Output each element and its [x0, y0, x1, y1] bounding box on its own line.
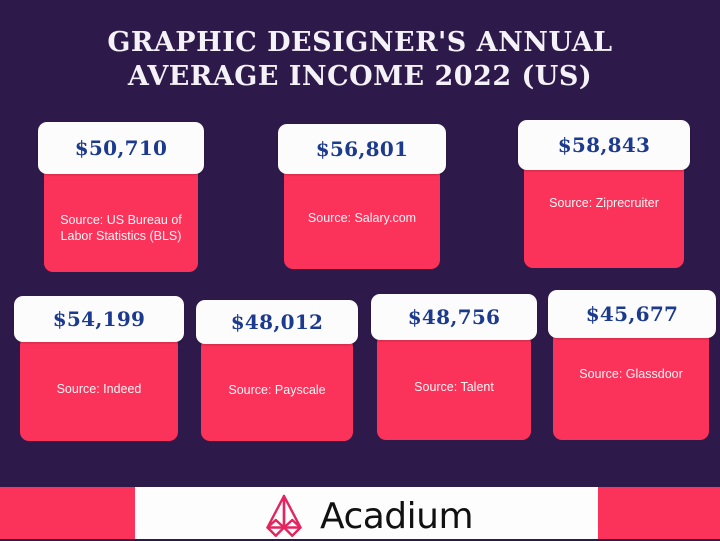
brand-name: Acadium: [320, 497, 473, 537]
acadium-diamond-icon: [260, 493, 308, 541]
stat-card-value-label: $54,199: [53, 307, 146, 331]
stat-card-source-box: Source: Talent: [377, 334, 531, 440]
brand-logo: Acadium: [260, 493, 473, 541]
stat-card-source-label: Source: Talent: [408, 379, 500, 395]
stat-card-source-label: Source: Ziprecruiter: [543, 195, 665, 211]
stat-card-source-label: Source: Glassdoor: [573, 366, 689, 382]
stat-card-bls: Source: US Bureau of Labor Statistics (B…: [38, 122, 204, 272]
stat-card-source-box: Source: Ziprecruiter: [524, 162, 684, 268]
stat-card-ziprecruiter: Source: Ziprecruiter $58,843: [518, 120, 690, 268]
stat-card-salary-com: Source: Salary.com $56,801: [278, 124, 446, 269]
footer-brand-panel: Acadium: [135, 487, 598, 539]
stat-card-value-box: $56,801: [278, 124, 446, 174]
stat-card-source-label: Source: US Bureau of Labor Statistics (B…: [44, 212, 198, 244]
stat-card-value-label: $48,756: [408, 305, 501, 329]
page-title: Graphic Designer's Annual Average Income…: [0, 26, 720, 94]
stat-card-value-box: $58,843: [518, 120, 690, 170]
title-line-1: Graphic Designer's Annual: [0, 26, 720, 60]
stat-card-value-box: $45,677: [548, 290, 716, 338]
stat-card-source-label: Source: Indeed: [51, 381, 148, 397]
stat-card-value-box: $48,756: [371, 294, 537, 340]
stat-card-source-box: Source: Salary.com: [284, 166, 440, 269]
infographic-canvas: Graphic Designer's Annual Average Income…: [0, 0, 720, 539]
stat-card-payscale: Source: Payscale $48,012: [196, 300, 358, 441]
stat-card-value-label: $58,843: [558, 133, 651, 157]
stat-card-value-box: $50,710: [38, 122, 204, 174]
stat-card-source-label: Source: Salary.com: [302, 210, 422, 226]
stat-card-value-label: $48,012: [231, 310, 324, 334]
stat-card-source-box: Source: Glassdoor: [553, 330, 709, 440]
stat-card-indeed: Source: Indeed $54,199: [14, 296, 184, 441]
stat-card-value-label: $56,801: [316, 137, 409, 161]
stat-card-source-box: Source: US Bureau of Labor Statistics (B…: [44, 166, 198, 272]
stat-card-source-box: Source: Payscale: [201, 338, 353, 441]
footer-bar: Acadium: [0, 487, 720, 539]
stat-card-glassdoor: Source: Glassdoor $45,677: [548, 290, 716, 440]
stat-card-source-label: Source: Payscale: [222, 382, 331, 398]
stat-card-value-label: $50,710: [75, 136, 168, 160]
stat-card-value-box: $54,199: [14, 296, 184, 342]
title-line-2: Average Income 2022 (US): [0, 60, 720, 94]
stat-card-value-label: $45,677: [586, 302, 679, 326]
stat-card-talent: Source: Talent $48,756: [371, 294, 537, 440]
stat-card-source-box: Source: Indeed: [20, 336, 178, 441]
stat-card-value-box: $48,012: [196, 300, 358, 344]
